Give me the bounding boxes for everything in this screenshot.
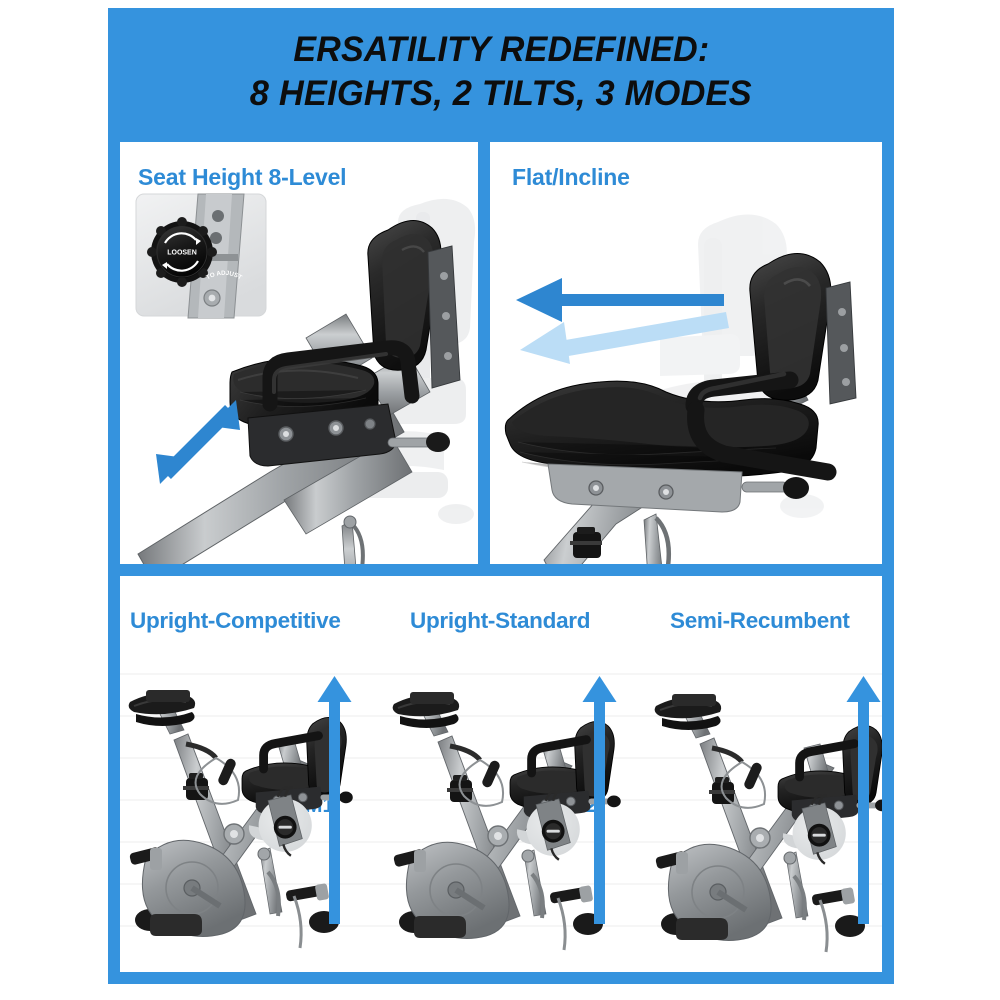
seat-lock-handle-2 <box>742 477 809 499</box>
headline-line-1: ERSATILITY REDEFINED: <box>293 30 709 71</box>
infographic-root: ERSATILITY REDEFINED: 8 HEIGHTS, 2 TILTS… <box>0 0 1000 1000</box>
svg-text:THEN PULL: THEN PULL <box>206 323 241 334</box>
knob-closeup-inset: TO ADJUST LOOSEN THEN PULL <box>136 194 266 334</box>
bike-upright-competitive <box>129 690 353 948</box>
header-banner: ERSATILITY REDEFINED: 8 HEIGHTS, 2 TILTS… <box>108 8 894 136</box>
seat-bracket-2 <box>548 464 742 512</box>
modes-illustration <box>120 576 882 972</box>
panel-modes: Upright-Competitive Upright-Standard Sem… <box>120 576 882 972</box>
backrest-support-2 <box>826 282 856 404</box>
panel-flat-incline: Flat/Incline <box>490 142 882 564</box>
knob-text-middle: LOOSEN <box>167 250 197 257</box>
headline-line-2: 8 HEIGHTS, 2 TILTS, 3 MODES <box>250 73 752 114</box>
bike-upright-standard <box>393 692 621 950</box>
seat-height-illustration: TO ADJUST LOOSEN THEN PULL <box>120 142 478 564</box>
panel-seat-height: Seat Height 8-Level <box>120 142 478 564</box>
seat-height-range-arrow <box>156 400 240 484</box>
bike-semi-recumbent <box>655 694 882 952</box>
incline-arrow-solid <box>516 278 724 322</box>
knob-text-bottom: THEN PULL <box>206 323 241 334</box>
flat-incline-illustration <box>490 142 882 564</box>
